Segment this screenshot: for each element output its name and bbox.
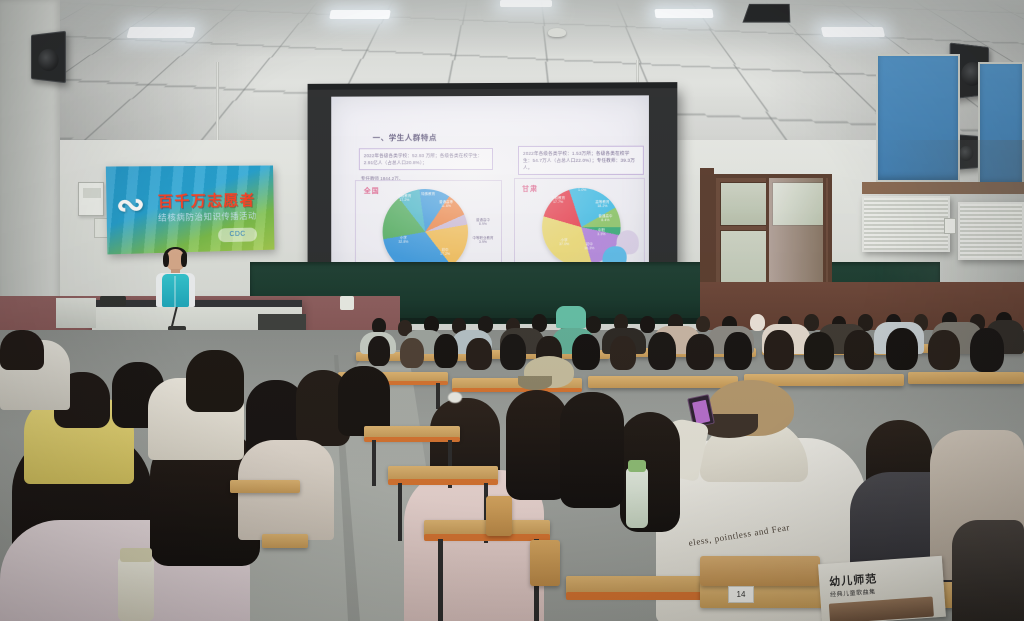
pie-slice-label: 小学 37.0% [552,238,576,247]
desk-edge [364,437,460,442]
slide-stat-box-national: 2022年各级各类学校：52.93 万所；各级各类在校学生：2.91亿人（占总人… [359,148,493,170]
banner-subtitle: 结核病防治知识传播活动 [158,210,257,224]
pie-slice-label: 学前教育 17.7% [546,196,570,205]
presenter-hair-side [181,253,187,267]
banner-title: 百千万志愿者 [158,189,256,211]
presenter [152,249,198,307]
ceiling-speaker-icon [742,4,790,23]
student-hair [648,332,676,370]
pie-slice-label: 初中 17.2% [434,248,456,257]
student-hair [0,330,44,370]
student-hair [804,332,834,370]
ribbon-swoosh-icon: ∾ [116,188,158,227]
ceiling-light [821,27,885,37]
desk-leg [372,440,376,486]
thermos-bottle [118,558,154,621]
desk-row [588,376,738,388]
screen-housing [308,82,678,90]
student-hair [434,334,458,368]
presenter-volunteer-vest [162,274,189,307]
presenter-hair-side [163,253,169,267]
ceiling-light [329,10,391,19]
desk-surface [230,480,300,493]
pie-slice-label: 普通高中 8.9% [470,218,496,227]
student-hair [466,338,492,370]
seat-back [530,540,560,586]
student-hair [686,334,714,370]
student-hair [186,350,244,412]
door-glass-pane [720,182,768,226]
ceiling-light [500,0,552,7]
book-cover-image [829,596,934,621]
chart-label-gansu: 甘肃 [522,184,538,194]
water-bottle [626,468,648,528]
desk-edge [452,388,582,392]
projected-slide: 一、学生人群特点 2022年各级各类学校：52.93 万所；各级各类在校学生：2… [331,95,649,286]
bottle-cap [628,460,646,472]
lecture-hall-photo: ∾ 百千万志愿者 结核病防治知识传播活动 CDC 一、学生人群特点 2022年各… [0,0,1024,621]
seat-back [486,496,512,536]
desk-leg [438,539,443,621]
slide-stat-box-gansu: 2022年各级各类学校：1.53万所；各级各类在校学生：54.7万人（占总人口2… [518,146,644,176]
radiator-cover [958,202,1024,260]
desk-edge [388,479,498,485]
wall-speaker-icon [31,31,66,84]
bottle-cap [120,548,152,562]
student-hair [500,334,526,370]
student-hair [970,328,1004,372]
pie-slice-label: 普通高中 8.4% [592,214,618,223]
cup-on-lectern [340,296,354,310]
banner-logo: CDC [218,228,257,243]
radiator-cover [862,196,950,252]
slide-heading: 一、学生人群特点 [373,132,437,143]
student-hair [610,336,636,370]
desk-backrest [700,556,820,586]
chart-label-national: 全国 [364,186,380,196]
cap-brim [518,376,552,390]
ceiling-dome-fixture [548,28,566,37]
pie-slice-label: 特殊教育 [418,192,438,196]
student-hair [724,332,752,370]
desk-leg [398,483,402,541]
student-head [750,314,765,331]
pie-slice-label: 1.0% [574,188,590,192]
student-hair [560,392,624,508]
student-hair [886,328,918,370]
ceiling-light [654,9,713,18]
desk-number-tag: 14 [728,586,754,603]
student-hair [928,330,960,370]
student-hair [506,390,568,500]
event-banner: ∾ 百千万志愿者 结核病防治知识传播活动 CDC [106,165,275,254]
pie-slice-label: 中等职业教育 3.9% [468,236,498,245]
textbook: 幼儿师范 经典儿童歌曲集 [818,556,946,621]
pie-slice-label: 初中 16.3% [578,242,600,251]
pie-slice-label: 学前教育 17.2% [392,194,416,202]
side-table [56,298,96,328]
pie-slice-label: 小学 32.8% [392,236,414,245]
student-head [696,316,710,332]
ceiling-light [126,27,195,38]
hair-clip [448,392,462,403]
desk-edge [566,592,716,600]
volunteer-vest [556,306,586,328]
wall-control-box [78,182,104,216]
desk-row [908,372,1024,384]
pie-slice-label: 高等教育 18.2% [588,200,616,209]
pie-slice-label: 普通高等 11.6% [433,200,459,208]
student-hair [368,336,390,366]
student-hair [400,338,424,368]
student-hair [572,334,600,370]
speaker-cone-icon [38,49,58,72]
phone-screen [692,400,710,424]
desk-leg [436,383,440,409]
student-hair [764,330,794,370]
wall-switch [944,218,956,234]
student-head [640,316,655,333]
student-hair [844,330,874,370]
laptop-on-lectern [100,296,126,306]
desk-surface [262,534,308,548]
book-subtitle: 经典儿童歌曲集 [830,586,876,598]
student-body [952,520,1024,621]
